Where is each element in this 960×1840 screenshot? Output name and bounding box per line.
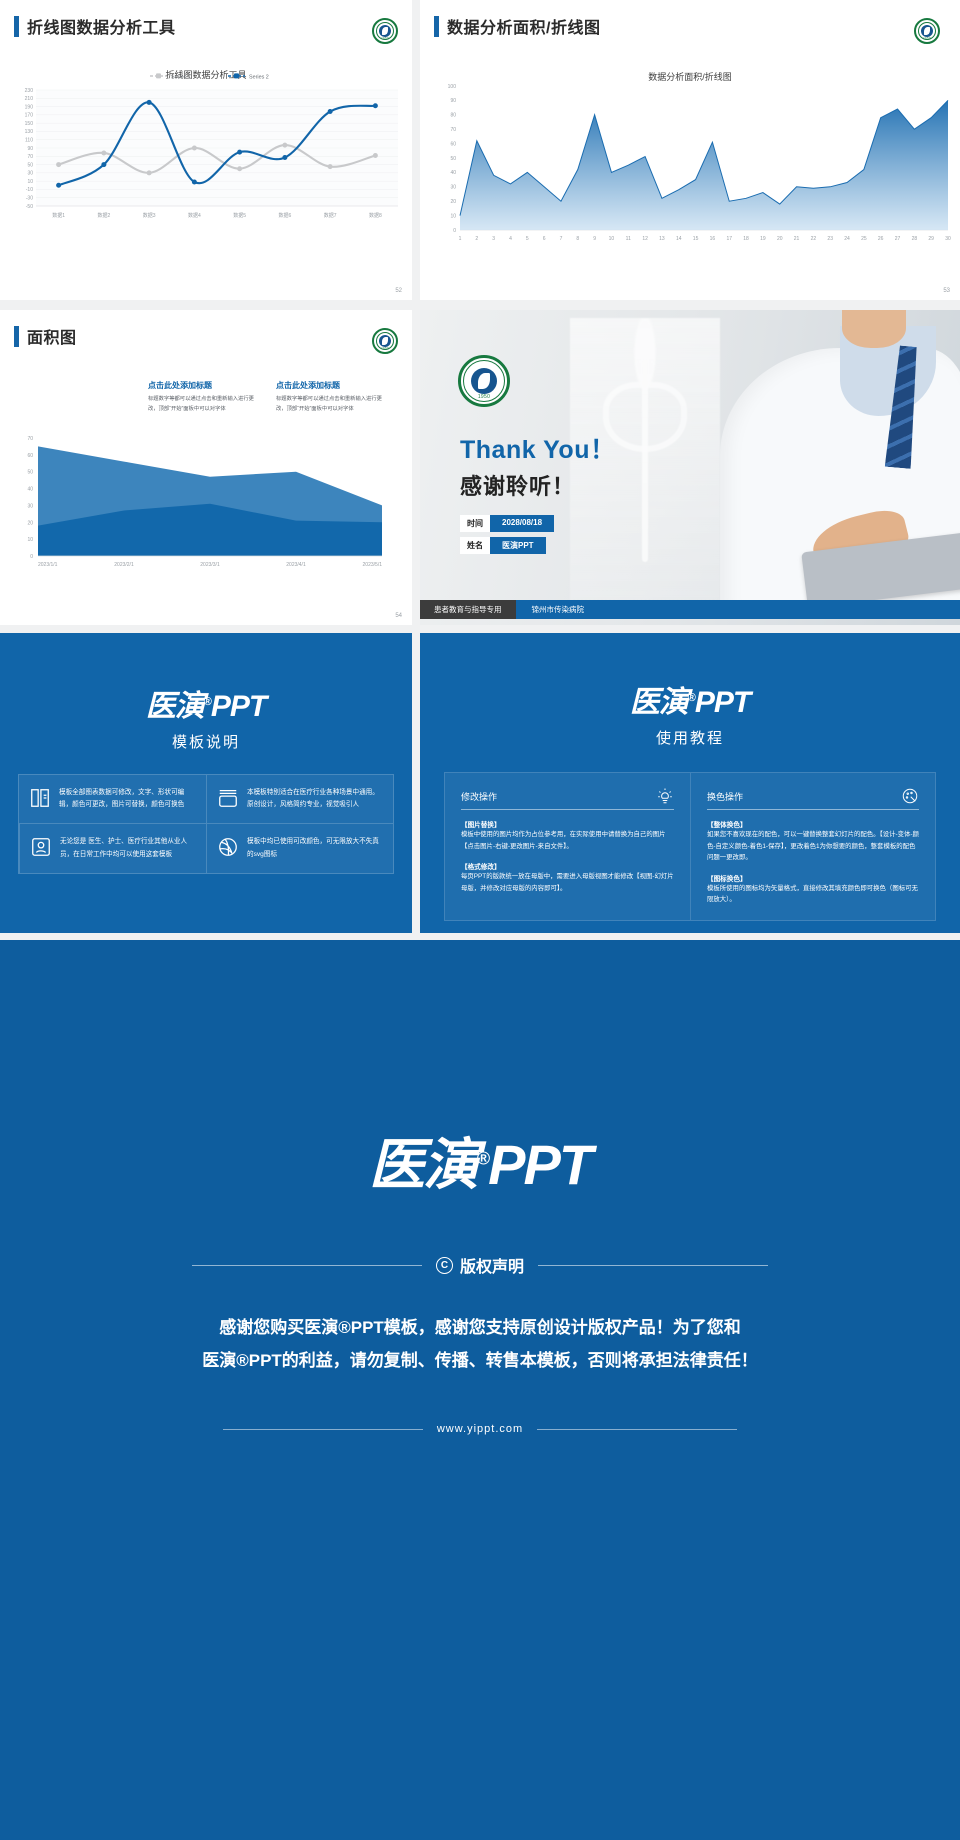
annotation-heading: 点击此处添加标题 <box>276 380 388 391</box>
svg-text:数据1: 数据1 <box>52 212 65 219</box>
footer-left-label: 患者教育与指导专用 <box>420 600 516 619</box>
slide-52-header: 折线图数据分析工具 <box>0 0 412 38</box>
svg-text:2023/1/1: 2023/1/1 <box>38 562 58 568</box>
svg-text:6: 6 <box>543 236 546 242</box>
svg-text:230: 230 <box>25 88 34 94</box>
book-icon <box>29 787 51 809</box>
svg-text:50: 50 <box>450 156 456 162</box>
tutorial-item-body: 如果您不喜欢现在的配色，可以一键替换整套幻灯片的配色。【设计-变体-颜色-自定义… <box>707 829 919 864</box>
copyright-heading: C 版权声明 <box>436 1253 524 1277</box>
title-accent-bar <box>14 16 19 37</box>
tutorial-column-header: 换色操作 <box>707 787 919 810</box>
info-cell[interactable]: 模板中均已使用可改颜色，可无限放大不失真的svg图标 <box>206 823 393 872</box>
svg-text:20: 20 <box>450 199 456 205</box>
svg-text:8: 8 <box>576 236 579 242</box>
thank-you-cn: 感谢聆听！ <box>460 469 615 501</box>
svg-text:10: 10 <box>450 213 456 219</box>
user-icon <box>30 836 52 858</box>
svg-text:24: 24 <box>844 236 850 242</box>
page-title: 折线图数据分析工具 <box>27 14 176 38</box>
divider-left <box>192 1265 422 1266</box>
svg-text:2: 2 <box>475 236 478 242</box>
copyright-body: 感谢您购买医演®PPT模板，感谢您支持原创设计版权产品！为了您和 医演®PPT的… <box>130 1311 830 1377</box>
svg-text:2023/3/1: 2023/3/1 <box>200 562 220 568</box>
tutorial-item-body: 模板所使用的图标均为矢量格式，直接修改其填充颜色即可换色（图标可无限放大）。 <box>707 883 919 906</box>
svg-text:30: 30 <box>27 171 33 177</box>
hospital-logo-icon: 1950 <box>458 355 510 407</box>
page-title: 数据分析面积/折线图 <box>447 14 600 38</box>
slide-thank-you[interactable]: 1950 Thank You！ 感谢聆听！ 时间 2028/08/18 姓名 医… <box>420 310 960 625</box>
palette-icon <box>901 787 919 805</box>
slide-subtitle: 使用教程 <box>420 727 960 748</box>
svg-text:70: 70 <box>27 154 33 160</box>
svg-text:13: 13 <box>659 236 665 242</box>
tutorial-column-modify: 修改操作 【图片替换】 模板中使用的图片均作为占位参考用，在实际使用中请替换为自… <box>445 773 690 920</box>
svg-text:80: 80 <box>450 113 456 119</box>
svg-text:4: 4 <box>509 236 512 242</box>
tutorial-item-heading: 【整体换色】 <box>707 819 919 829</box>
svg-text:-10: -10 <box>26 187 33 193</box>
info-cell-text: 本模板特别适合在医疗行业各种场景中通用。原创设计，风格简约专业，视觉吸引人 <box>247 787 383 811</box>
svg-text:27: 27 <box>895 236 901 242</box>
website-url[interactable]: www.yippt.com <box>437 1423 523 1435</box>
thank-you-en: Thank You！ <box>460 430 615 466</box>
svg-text:10: 10 <box>27 537 33 543</box>
svg-text:23: 23 <box>827 236 833 242</box>
svg-text:29: 29 <box>928 236 934 242</box>
slide-53-header: 数据分析面积/折线图 <box>420 0 960 38</box>
info-cell-text: 模板全部图表数据可修改，文字、形状可编辑，颜色可更改，图片可替换，颜色可换色 <box>59 787 196 811</box>
svg-text:2023/5/1: 2023/5/1 <box>363 562 383 568</box>
hospital-logo-icon: 1950 <box>372 18 398 44</box>
slide-54-header: 面积图 <box>0 310 412 348</box>
bulb-icon <box>656 787 674 805</box>
tutorial-column-title: 修改操作 <box>461 790 650 803</box>
svg-text:25: 25 <box>861 236 867 242</box>
brand-cn: 医演 <box>146 690 204 723</box>
tutorial-column-recolor: 换色操作 【整体换色】 如果您不喜欢现在的配色，可以一键替换整套幻灯片的配色。【… <box>690 773 935 920</box>
tutorial-column-title: 换色操作 <box>707 790 895 803</box>
info-cell[interactable]: 无论您是 医生、护士、医疗行业其他从业人员，在日常工作中均可以使用这套模板 <box>19 823 206 872</box>
divider-right <box>538 1265 768 1266</box>
doctor-photo <box>690 310 960 612</box>
info-cell-text: 无论您是 医生、护士、医疗行业其他从业人员，在日常工作中均可以使用这套模板 <box>60 836 196 860</box>
meta-row-name: 姓名 医演PPT <box>460 537 554 554</box>
brand-cn: 医演 <box>630 686 688 719</box>
hospital-logo-icon: 1950 <box>914 18 940 44</box>
copyright-icon: C <box>436 1257 453 1274</box>
meta-key: 姓名 <box>460 537 490 554</box>
svg-text:7: 7 <box>560 236 563 242</box>
svg-text:190: 190 <box>25 104 34 110</box>
svg-text:90: 90 <box>27 146 33 152</box>
title-accent-bar <box>14 326 19 347</box>
svg-text:90: 90 <box>450 98 456 104</box>
slide-copyright[interactable]: 医演®PPT C 版权声明 感谢您购买医演®PPT模板，感谢您支持原创设计版权产… <box>0 940 960 1840</box>
thank-you-heading: Thank You！ 感谢聆听！ <box>460 430 615 501</box>
slide-53[interactable]: 数据分析面积/折线图 1950 数据分析面积/折线图 0102030405060… <box>420 0 960 300</box>
svg-text:28: 28 <box>912 236 918 242</box>
svg-text:210: 210 <box>25 96 34 102</box>
svg-text:数据8: 数据8 <box>369 212 382 219</box>
svg-text:20: 20 <box>27 520 33 526</box>
annotation-blocks: 点击此处添加标题 标题数字等都可以通过点击和重新输入进行更改，顶部“开始”面板中… <box>148 380 398 415</box>
dribbble-icon <box>217 836 239 858</box>
annotation-body: 标题数字等都可以通过点击和重新输入进行更改，顶部“开始”面板中可以对字体 <box>148 395 260 415</box>
svg-text:Series 1: Series 1 <box>171 74 191 80</box>
svg-text:17: 17 <box>726 236 732 242</box>
hospital-logo-icon: 1950 <box>372 328 398 354</box>
brand-registered-mark: ® <box>688 692 695 704</box>
brand-registered-mark: ® <box>477 1148 488 1168</box>
svg-text:50: 50 <box>27 470 33 476</box>
stacked-area-chart: 0102030405060702023/1/12023/2/12023/3/12… <box>0 428 412 588</box>
footer-right-label: 锦州市传染病院 <box>516 600 960 619</box>
slide-footer-bar: 患者教育与指导专用 锦州市传染病院 <box>420 600 960 619</box>
svg-text:22: 22 <box>811 236 817 242</box>
svg-text:11: 11 <box>626 236 631 242</box>
tutorial-item-heading: 【图片替换】 <box>461 819 674 829</box>
copyright-heading-row: C 版权声明 <box>0 1253 960 1277</box>
slide-54[interactable]: 面积图 1950 点击此处添加标题 标题数字等都可以通过点击和重新输入进行更改，… <box>0 310 412 625</box>
page-number: 54 <box>395 613 402 619</box>
meta-list: 时间 2028/08/18 姓名 医演PPT <box>460 510 554 554</box>
svg-text:30: 30 <box>945 236 951 242</box>
svg-text:10: 10 <box>27 179 33 185</box>
svg-text:30: 30 <box>27 503 33 509</box>
svg-text:-30: -30 <box>26 196 33 202</box>
svg-text:0: 0 <box>453 228 456 234</box>
svg-text:19: 19 <box>760 236 766 242</box>
divider-right <box>537 1429 737 1430</box>
svg-text:数据7: 数据7 <box>324 212 337 219</box>
svg-text:70: 70 <box>27 436 33 442</box>
svg-text:18: 18 <box>743 236 749 242</box>
brand-cn: 医演 <box>369 1133 477 1196</box>
svg-text:10: 10 <box>609 236 615 242</box>
brand-registered-mark: ® <box>204 696 211 708</box>
svg-text:50: 50 <box>27 162 33 168</box>
area-chart: 0102030405060708090100123456789101112131… <box>420 68 960 263</box>
copyright-heading-text: 版权声明 <box>460 1253 524 1277</box>
brand-logo: 医演®PPT <box>0 681 412 725</box>
page-number: 52 <box>395 288 402 294</box>
svg-text:数据5: 数据5 <box>233 212 246 219</box>
title-accent-bar <box>434 16 439 37</box>
svg-text:150: 150 <box>25 121 34 127</box>
svg-text:Series 2: Series 2 <box>249 74 269 80</box>
svg-text:数据4: 数据4 <box>188 212 201 219</box>
svg-text:70: 70 <box>450 127 456 133</box>
slide-subtitle: 模板说明 <box>0 731 412 752</box>
svg-text:15: 15 <box>693 236 699 242</box>
annotation-block: 点击此处添加标题 标题数字等都可以通过点击和重新输入进行更改，顶部“开始”面板中… <box>148 380 260 415</box>
brand-ppt: PPT <box>695 686 750 719</box>
meta-key: 时间 <box>460 515 490 532</box>
svg-text:-50: -50 <box>26 204 33 210</box>
info-cell-text: 模板中均已使用可改颜色，可无限放大不失真的svg图标 <box>247 836 383 860</box>
svg-text:14: 14 <box>676 236 682 242</box>
website-row: www.yippt.com <box>0 1423 960 1435</box>
slide-tutorial[interactable]: 医演®PPT 使用教程 修改操作 【图片替换】 模板中使用的图片均作为占位参考用… <box>420 633 960 933</box>
svg-text:9: 9 <box>593 236 596 242</box>
svg-text:0: 0 <box>30 554 33 560</box>
svg-text:60: 60 <box>27 453 33 459</box>
divider-left <box>223 1429 423 1430</box>
svg-text:1: 1 <box>459 236 462 242</box>
tutorial-item-body: 每页PPT的版款统一放在母版中，需要进入母版视图才能修改【视图-幻灯片母版，并修… <box>461 871 674 894</box>
svg-text:2023/4/1: 2023/4/1 <box>286 562 306 568</box>
info-cell[interactable]: 本模板特别适合在医疗行业各种场景中通用。原创设计，风格简约专业，视觉吸引人 <box>206 775 393 823</box>
tutorial-grid: 修改操作 【图片替换】 模板中使用的图片均作为占位参考用，在实际使用中请替换为自… <box>444 772 936 921</box>
tutorial-item-heading: 【格式修改】 <box>461 861 674 871</box>
svg-text:5: 5 <box>526 236 529 242</box>
svg-text:170: 170 <box>25 113 34 119</box>
meta-value: 2028/08/18 <box>490 515 554 532</box>
svg-text:100: 100 <box>448 84 457 90</box>
tutorial-column-header: 修改操作 <box>461 787 674 810</box>
layers-icon <box>217 787 239 809</box>
tutorial-item-heading: 【图标换色】 <box>707 873 919 883</box>
meta-row-date: 时间 2028/08/18 <box>460 515 554 532</box>
svg-text:110: 110 <box>25 138 33 144</box>
svg-text:12: 12 <box>642 236 648 242</box>
copyright-line-1: 感谢您购买医演®PPT模板，感谢您支持原创设计版权产品！为了您和 <box>130 1311 830 1344</box>
brand-logo: 医演®PPT <box>0 1120 960 1201</box>
page-title: 面积图 <box>27 324 77 348</box>
svg-text:16: 16 <box>710 236 716 242</box>
annotation-heading: 点击此处添加标题 <box>148 380 260 391</box>
copyright-line-2: 医演®PPT的利益，请勿复制、传播、转售本模板，否则将承担法律责任！ <box>130 1344 830 1377</box>
tutorial-item-body: 模板中使用的图片均作为占位参考用，在实际使用中请替换为自己的图片【点击图片-右键… <box>461 829 674 852</box>
svg-text:40: 40 <box>27 487 33 493</box>
info-cell[interactable]: 模板全部图表数据可修改，文字、形状可编辑，颜色可更改，图片可替换，颜色可换色 <box>19 775 206 823</box>
slide-deck-contact-sheet: 折线图数据分析工具 1950 折线图数据分析工具 Series 1Series … <box>0 0 960 1840</box>
annotation-body: 标题数字等都可以通过点击和重新输入进行更改，顶部“开始”面板中可以对字体 <box>276 395 388 415</box>
svg-text:40: 40 <box>450 170 456 176</box>
brand-ppt: PPT <box>211 690 266 723</box>
svg-text:数据6: 数据6 <box>278 212 291 219</box>
svg-text:130: 130 <box>25 129 34 135</box>
svg-text:30: 30 <box>450 185 456 191</box>
brand-logo: 医演®PPT <box>420 677 960 721</box>
page-number: 53 <box>943 288 950 294</box>
svg-text:60: 60 <box>450 141 456 147</box>
svg-text:3: 3 <box>492 236 495 242</box>
svg-text:2023/2/1: 2023/2/1 <box>114 562 134 568</box>
brand-ppt: PPT <box>488 1133 591 1196</box>
svg-text:20: 20 <box>777 236 783 242</box>
svg-text:26: 26 <box>878 236 884 242</box>
slide-template-info[interactable]: 医演®PPT 模板说明 模板全部图表数据可修改，文字、形状可编辑，颜色可更改，图… <box>0 633 412 933</box>
slide-52[interactable]: 折线图数据分析工具 1950 折线图数据分析工具 Series 1Series … <box>0 0 412 300</box>
meta-value: 医演PPT <box>490 537 546 554</box>
annotation-block: 点击此处添加标题 标题数字等都可以通过点击和重新输入进行更改，顶部“开始”面板中… <box>276 380 388 415</box>
svg-text:数据3: 数据3 <box>143 212 156 219</box>
info-card-grid: 模板全部图表数据可修改，文字、形状可编辑，颜色可更改，图片可替换，颜色可换色 本… <box>18 774 394 874</box>
svg-text:21: 21 <box>794 236 800 242</box>
line-chart: Series 1Series 2-50-30-10103050709011013… <box>0 60 412 260</box>
svg-text:数据2: 数据2 <box>97 212 110 219</box>
